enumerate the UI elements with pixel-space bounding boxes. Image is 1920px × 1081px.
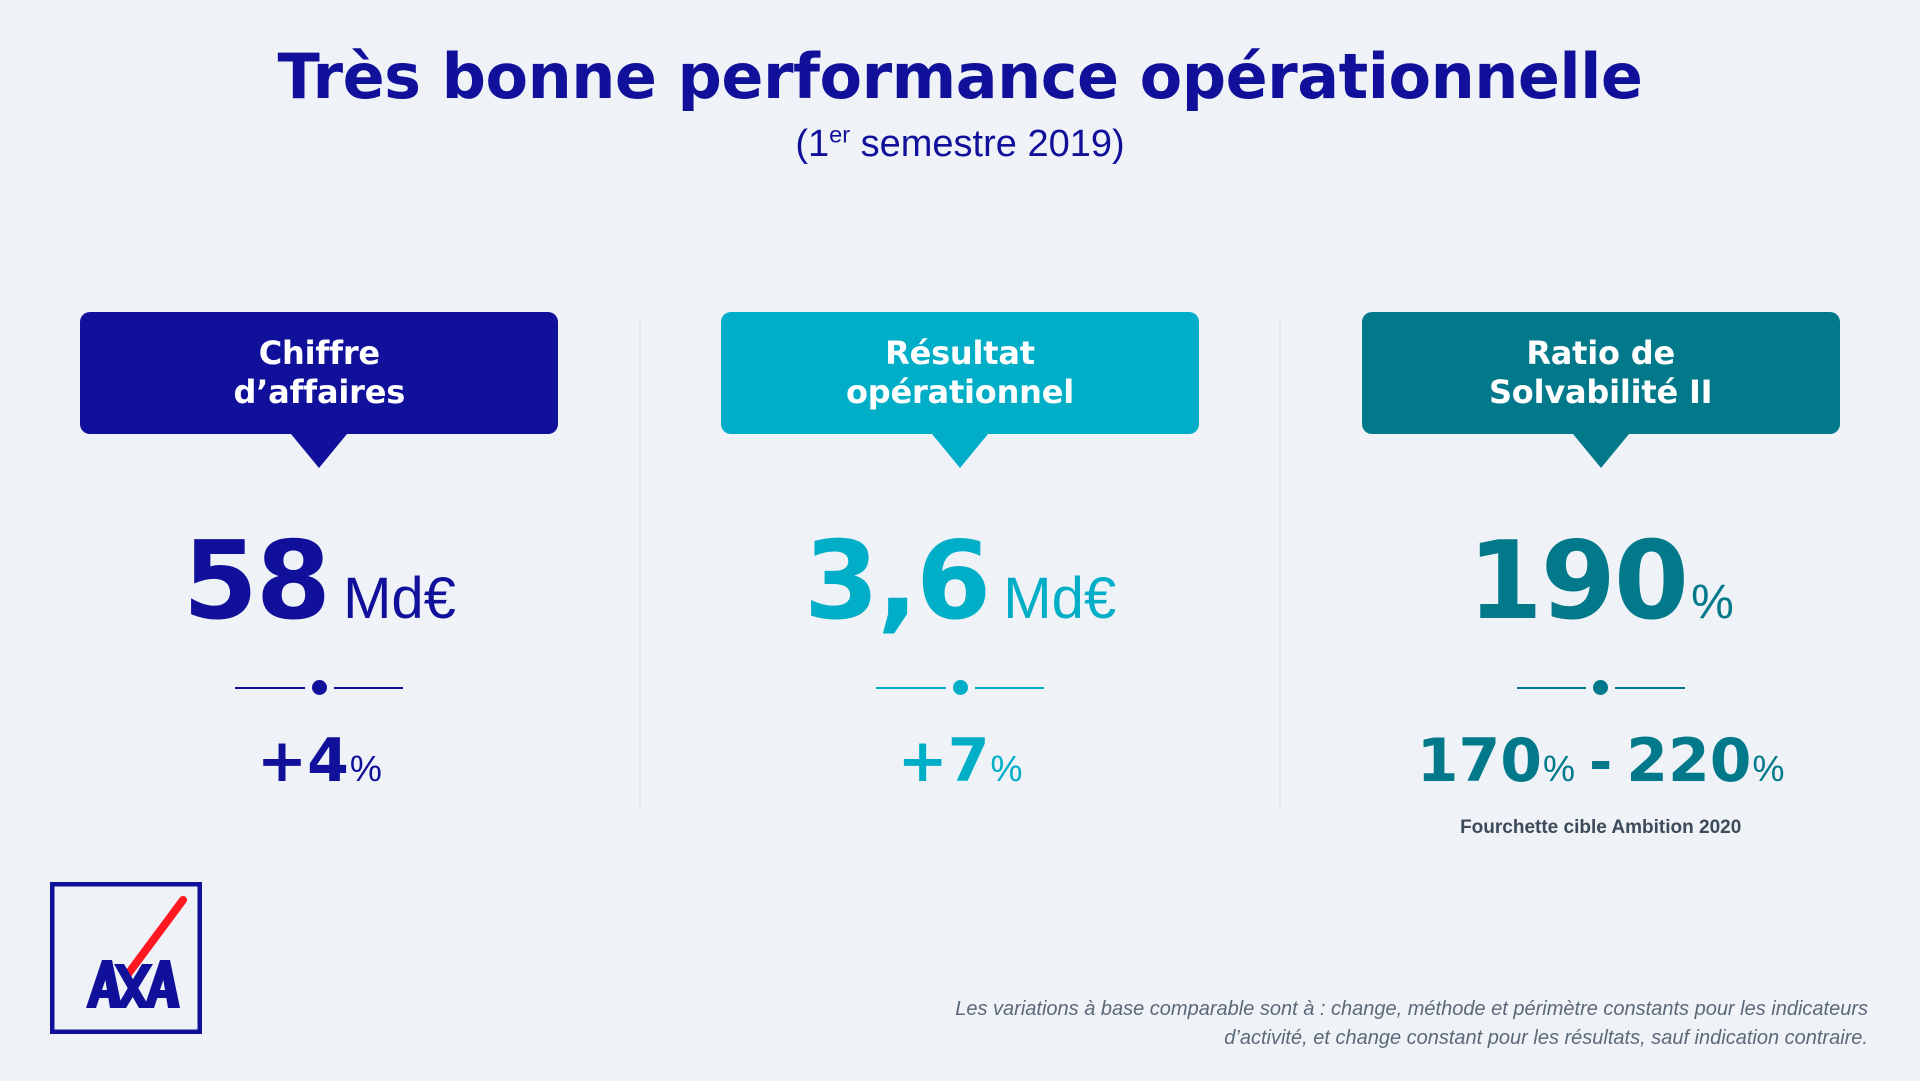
- card-label-ratio-solvabilite: Ratio de Solvabilité II: [1489, 334, 1712, 412]
- kpi-range-caption: Fourchette cible Ambition 2020: [1460, 817, 1741, 839]
- kpi-change-number: +4: [257, 731, 349, 791]
- kpi-range-high-number: 220: [1626, 731, 1751, 791]
- kpi-value-ratio-solvabilite: 190 %: [1468, 528, 1734, 636]
- kpi-columns: Chiffre d’affaires 58 Md€ +4 % Résultat …: [0, 312, 1920, 839]
- kpi-change-percent-sign: %: [350, 751, 382, 787]
- card-header-resultat-operationnel: Résultat opérationnel: [721, 312, 1199, 434]
- kpi-change-percent-sign: %: [991, 751, 1023, 787]
- page-subtitle: (1er semestre 2019): [0, 123, 1920, 166]
- header: Très bonne performance opérationnelle (1…: [0, 44, 1920, 166]
- kpi-column-ratio-solvabilite: Ratio de Solvabilité II 190 % 170 % - 22…: [1281, 312, 1920, 839]
- kpi-value-chiffre-daffaires: 58 Md€: [183, 528, 456, 636]
- card-pointer-icon: [291, 434, 347, 468]
- card-header-chiffre-daffaires: Chiffre d’affaires: [80, 312, 558, 434]
- kpi-change-number: +7: [897, 731, 989, 791]
- divider-bar-left: [1517, 687, 1587, 689]
- page-title: Très bonne performance opérationnelle: [0, 44, 1920, 109]
- dot-divider: [235, 680, 403, 695]
- infographic-page: Très bonne performance opérationnelle (1…: [0, 0, 1920, 1081]
- kpi-change-resultat-operationnel: +7 %: [897, 731, 1022, 791]
- kpi-value-unit: Md€: [343, 570, 456, 628]
- card-label-chiffre-daffaires: Chiffre d’affaires: [234, 334, 406, 412]
- card-pointer-icon: [932, 434, 988, 468]
- divider-bar-left: [235, 687, 305, 689]
- divider-dot-icon: [953, 680, 968, 695]
- kpi-range-low-percent-sign: %: [1543, 751, 1575, 787]
- divider-bar-right: [334, 687, 404, 689]
- kpi-value-resultat-operationnel: 3,6 Md€: [804, 528, 1116, 636]
- footnote-line-2: d’activité, et change constant pour les …: [798, 1024, 1868, 1053]
- footnote-line-1: Les variations à base comparable sont à …: [798, 995, 1868, 1024]
- kpi-value-number: 3,6: [804, 528, 989, 636]
- kpi-range-high-percent-sign: %: [1753, 751, 1785, 787]
- subtitle-suffix: semestre 2019): [850, 123, 1125, 165]
- dot-divider: [876, 680, 1044, 695]
- kpi-change-chiffre-daffaires: +4 %: [257, 731, 382, 791]
- dot-divider: [1517, 680, 1685, 695]
- subtitle-superscript: er: [829, 121, 850, 147]
- card-label-resultat-operationnel: Résultat opérationnel: [846, 334, 1074, 412]
- kpi-range-ratio-solvabilite: 170 % - 220 %: [1417, 731, 1785, 791]
- kpi-column-chiffre-daffaires: Chiffre d’affaires 58 Md€ +4 %: [0, 312, 639, 791]
- axa-logo: [50, 882, 202, 1034]
- subtitle-prefix: (1: [795, 123, 829, 165]
- divider-dot-icon: [312, 680, 327, 695]
- axa-logo-icon: [50, 882, 202, 1034]
- kpi-value-unit: Md€: [1003, 570, 1116, 628]
- kpi-value-unit: %: [1691, 579, 1734, 627]
- kpi-value-number: 58: [183, 528, 329, 636]
- card-pointer-icon: [1573, 434, 1629, 468]
- divider-bar-right: [975, 687, 1045, 689]
- kpi-range-dash: -: [1589, 735, 1612, 791]
- card-header-ratio-solvabilite: Ratio de Solvabilité II: [1362, 312, 1840, 434]
- footnote: Les variations à base comparable sont à …: [798, 995, 1868, 1053]
- divider-bar-right: [1615, 687, 1685, 689]
- divider-dot-icon: [1593, 680, 1608, 695]
- kpi-value-number: 190: [1468, 528, 1687, 636]
- kpi-range-low-number: 170: [1417, 731, 1542, 791]
- divider-bar-left: [876, 687, 946, 689]
- kpi-column-resultat-operationnel: Résultat opérationnel 3,6 Md€ +7 %: [641, 312, 1280, 791]
